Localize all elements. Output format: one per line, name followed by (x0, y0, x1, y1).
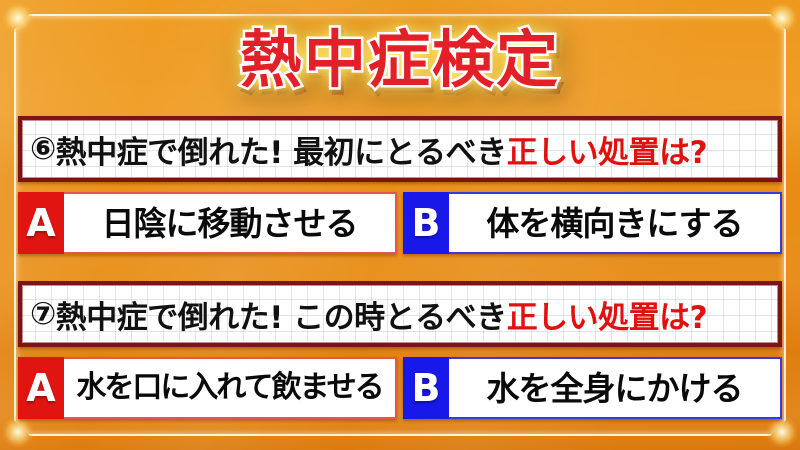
corner-sparkle-bottom-right (767, 417, 797, 447)
answer-tag-b: B (403, 192, 449, 254)
question-panel: ⑦熱中症で倒れた! この時とるべき正しい処置は? (18, 281, 782, 347)
question-number: ⑥ (30, 131, 56, 167)
answer-text-container-a: 水を口に入れて飲ませる (64, 357, 397, 419)
answer-tag-a: A (18, 357, 64, 419)
answer-tag-b: B (403, 357, 449, 419)
answer-tag-a: A (18, 192, 64, 254)
question-panel: ⑥熱中症で倒れた! 最初にとるべき正しい処置は? (18, 116, 782, 182)
question-text-highlight: 正しい処置は? (507, 127, 707, 172)
question-text-highlight: 正しい処置は? (507, 292, 707, 337)
answer-text-container-b: 水を全身にかける (449, 357, 782, 419)
quiz-graphic-stage: 熱中症検定 ⑥熱中症で倒れた! 最初にとるべき正しい処置は? A 日陰に移動させ… (0, 0, 800, 450)
answer-option-a[interactable]: A 水を口に入れて飲ませる (18, 357, 397, 419)
question-text-plain: 熱中症で倒れた! 最初にとるべき (56, 127, 507, 172)
question-text: ⑥熱中症で倒れた! 最初にとるべき正しい処置は? (22, 120, 778, 178)
answer-row: A 日陰に移動させる B 体を横向きにする (18, 192, 782, 254)
question-block: ⑥熱中症で倒れた! 最初にとるべき正しい処置は? A 日陰に移動させる B 体を… (18, 116, 782, 182)
question-number: ⑦ (30, 296, 56, 332)
answer-text-a: 日陰に移動させる (102, 207, 358, 240)
answer-text-container-a: 日陰に移動させる (64, 192, 397, 254)
question-block: ⑦熱中症で倒れた! この時とるべき正しい処置は? A 水を口に入れて飲ませる B… (18, 281, 782, 347)
question-text: ⑦熱中症で倒れた! この時とるべき正しい処置は? (22, 285, 778, 343)
answer-option-b[interactable]: B 体を横向きにする (403, 192, 782, 254)
title-banner: 熱中症検定 (0, 16, 800, 104)
answer-row: A 水を口に入れて飲ませる B 水を全身にかける (18, 357, 782, 419)
answer-text-container-b: 体を横向きにする (449, 192, 782, 254)
question-text-plain: 熱中症で倒れた! この時とるべき (56, 292, 507, 337)
answer-option-b[interactable]: B 水を全身にかける (403, 357, 782, 419)
program-title: 熱中症検定 (240, 29, 560, 91)
answer-option-a[interactable]: A 日陰に移動させる (18, 192, 397, 254)
answer-text-b: 水を全身にかける (487, 372, 743, 405)
corner-sparkle-bottom-left (3, 417, 33, 447)
answer-text-b: 体を横向きにする (486, 207, 742, 240)
answer-text-a: 水を口に入れて飲ませる (76, 373, 382, 403)
